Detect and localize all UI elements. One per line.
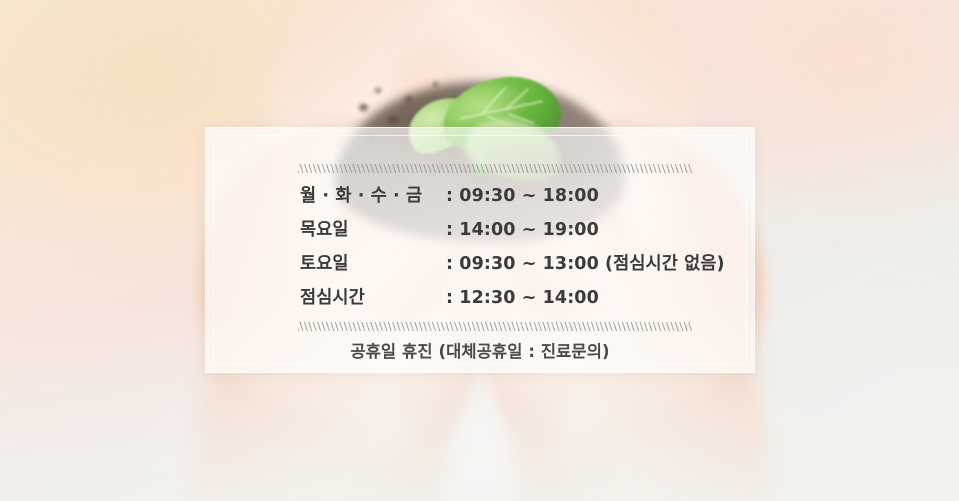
hours-time-value: : 09:30 ~ 13:00 (점심시간 없음): [446, 250, 725, 275]
hours-row: 토요일 : 09:30 ~ 13:00 (점심시간 없음): [300, 250, 720, 284]
hours-time-value: : 14:00 ~ 19:00: [446, 220, 720, 240]
hours-banner: 월 · 화 · 수 · 금 : 09:30 ~ 18:00 목요일 : 14:0…: [0, 0, 959, 501]
hours-time-value: : 12:30 ~ 14:00: [446, 288, 720, 308]
divider-bottom: [298, 322, 692, 331]
hours-card-inner-border: 월 · 화 · 수 · 금 : 09:30 ~ 18:00 목요일 : 14:0…: [213, 135, 747, 365]
hours-day-label: 점심시간: [300, 284, 446, 309]
hours-card: 월 · 화 · 수 · 금 : 09:30 ~ 18:00 목요일 : 14:0…: [205, 127, 755, 373]
hours-day-label: 월 · 화 · 수 · 금: [300, 182, 446, 207]
hours-row: 점심시간 : 12:30 ~ 14:00: [300, 284, 720, 318]
divider-top: [298, 164, 692, 173]
holiday-note: 공휴일 휴진 (대체공휴일 : 진료문의): [214, 338, 746, 362]
hours-list: 월 · 화 · 수 · 금 : 09:30 ~ 18:00 목요일 : 14:0…: [300, 182, 720, 318]
hours-day-label: 토요일: [300, 250, 446, 275]
hours-time-value: : 09:30 ~ 18:00: [446, 186, 720, 206]
hours-row: 목요일 : 14:00 ~ 19:00: [300, 216, 720, 250]
hours-day-label: 목요일: [300, 216, 446, 241]
hours-row: 월 · 화 · 수 · 금 : 09:30 ~ 18:00: [300, 182, 720, 216]
